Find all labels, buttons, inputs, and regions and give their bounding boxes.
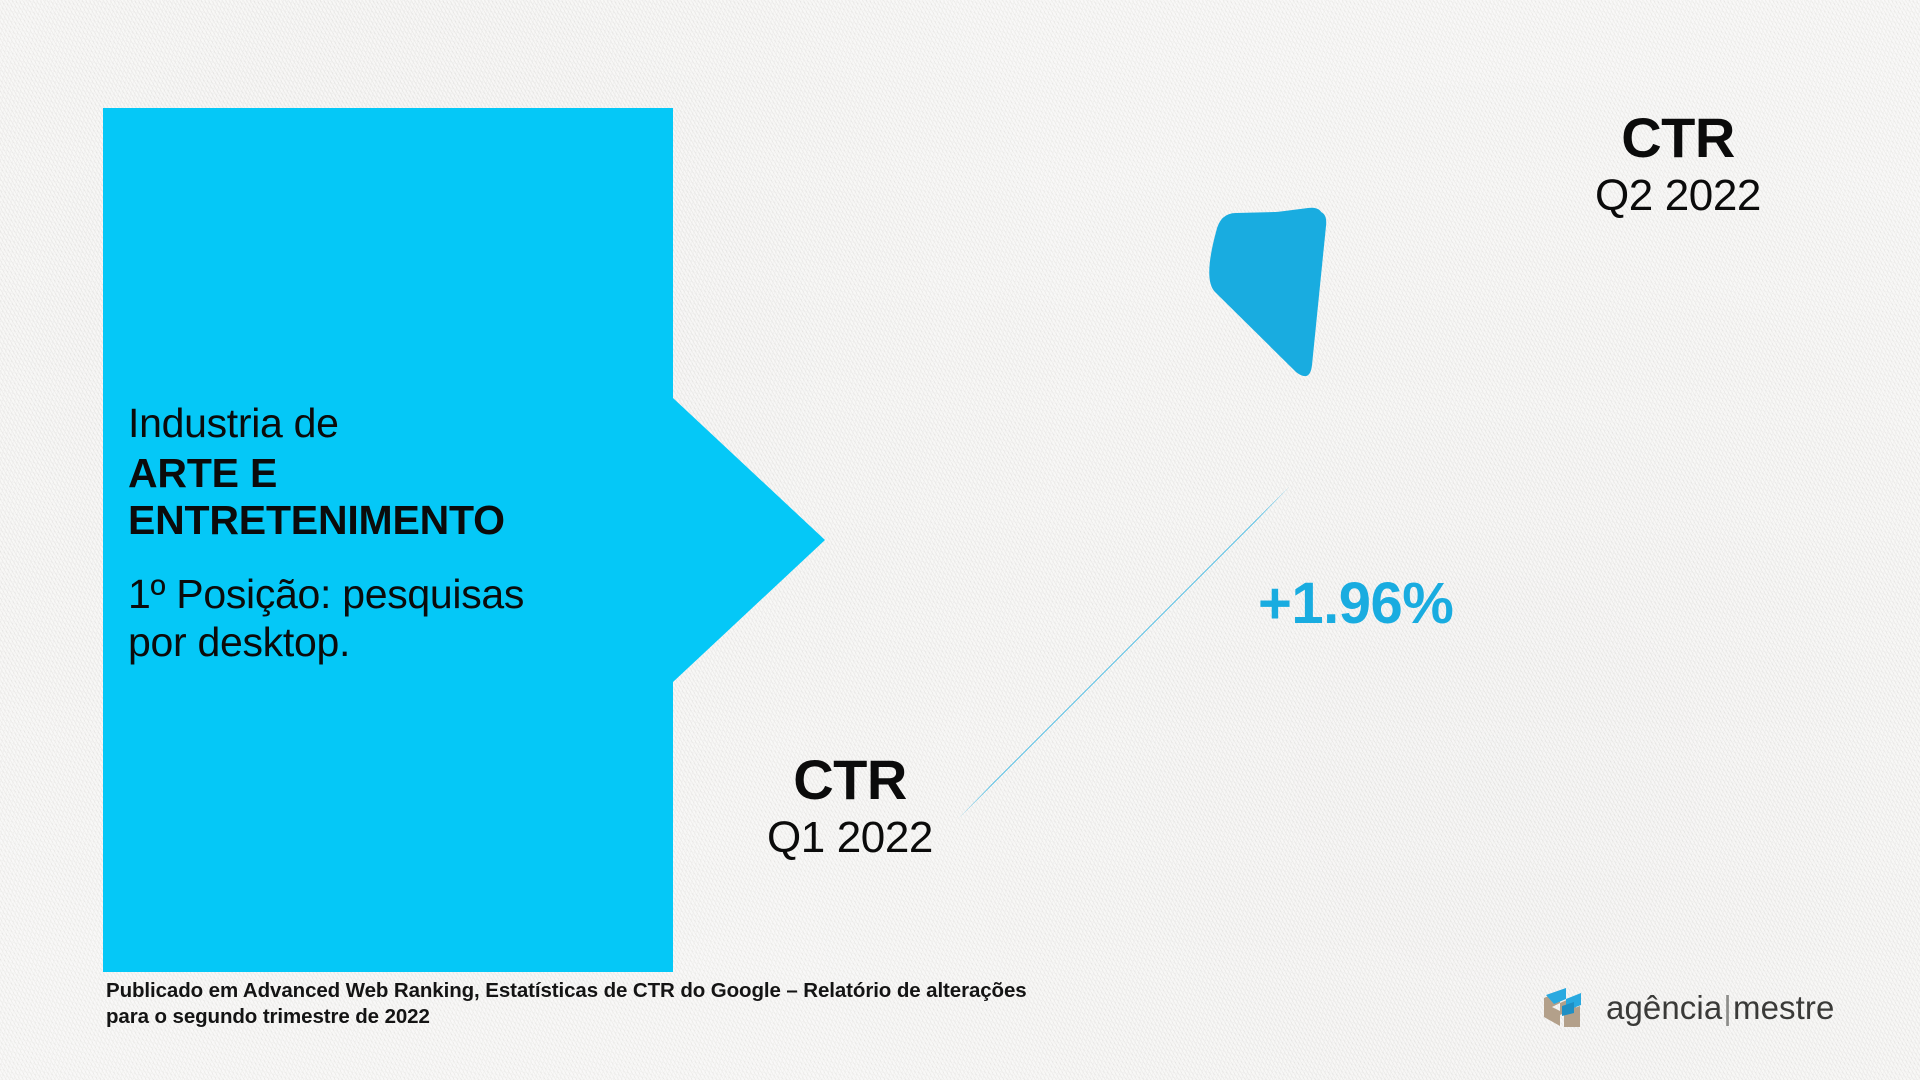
brand-name-divider: | — [1722, 989, 1733, 1026]
industry-name-line-2: ENTRETENIMENTO — [128, 497, 688, 545]
ctr-delta-value: +1.96% — [1258, 570, 1453, 637]
industry-panel-text: Industria de ARTE E ENTRETENIMENTO 1º Po… — [128, 400, 688, 667]
arrow-shaft — [958, 486, 1290, 819]
arrow-head-body — [1209, 211, 1326, 376]
position-description: 1º Posição: pesquisas por desktop. — [128, 571, 688, 667]
industry-prefix-label: Industria de — [128, 400, 688, 448]
ctr-label-start-period: Q1 2022 — [700, 812, 1000, 864]
position-line-1: 1º Posição: pesquisas — [128, 571, 688, 619]
ctr-label-end-title: CTR — [1528, 110, 1828, 166]
ctr-label-start: CTR Q1 2022 — [700, 752, 1000, 864]
brand-name-second: mestre — [1733, 989, 1834, 1026]
industry-name-line-1: ARTE E — [128, 450, 688, 498]
industry-name-block: ARTE E ENTRETENIMENTO — [128, 450, 688, 545]
brand-logo-text: agência|mestre — [1606, 989, 1834, 1027]
ctr-label-end-period: Q2 2022 — [1528, 170, 1828, 222]
source-note: Publicado em Advanced Web Ranking, Estat… — [106, 978, 1226, 1030]
ctr-label-start-title: CTR — [700, 752, 1000, 808]
agencia-mestre-logo-icon — [1540, 982, 1592, 1034]
source-note-line-2: para o segundo trimestre de 2022 — [106, 1004, 1226, 1030]
source-note-line-1: Publicado em Advanced Web Ranking, Estat… — [106, 978, 1226, 1004]
brand-name-first: agência — [1606, 989, 1722, 1026]
infographic-canvas: Industria de ARTE E ENTRETENIMENTO 1º Po… — [0, 0, 1920, 1080]
position-line-2: por desktop. — [128, 619, 688, 667]
brand-logo: agência|mestre — [1540, 982, 1834, 1034]
ctr-label-end: CTR Q2 2022 — [1528, 110, 1828, 222]
growth-arrow — [900, 180, 1400, 840]
